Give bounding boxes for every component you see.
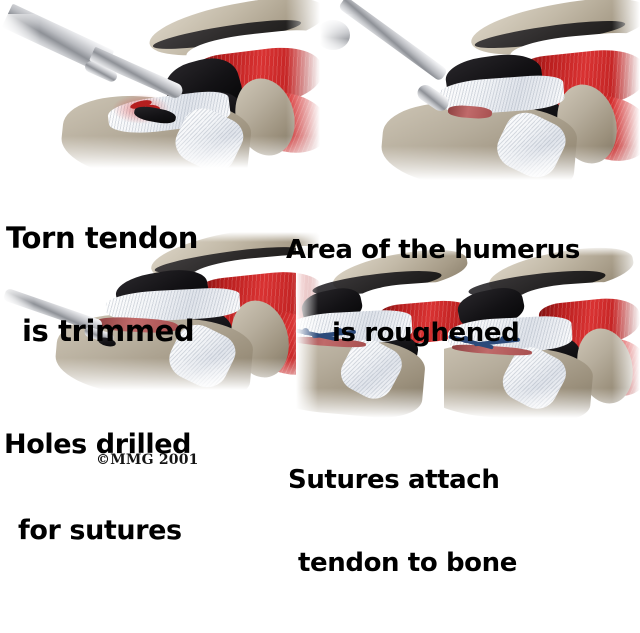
caption-panel-4: Sutures attach tendon to bone bbox=[288, 412, 517, 632]
illustration-canvas: Torn tendon is trimmed Area of the humer… bbox=[0, 0, 640, 480]
panel1-left-fade bbox=[0, 14, 40, 70]
caption-1-line-1: Torn tendon bbox=[6, 223, 198, 254]
caption-3-line-2: for sutures bbox=[18, 517, 191, 546]
panel2-bottom-fade bbox=[320, 146, 640, 180]
caption-4-line-1: Sutures attach bbox=[288, 467, 517, 495]
panel-torn-tendon-trimmed bbox=[0, 0, 320, 168]
copyright-notice: ©MMG 2001 bbox=[96, 452, 199, 468]
caption-4-line-2: tendon to bone bbox=[298, 550, 517, 578]
panel2-left-fade bbox=[320, 14, 354, 72]
caption-2-line-1: Area of the humerus bbox=[286, 237, 580, 265]
caption-1-line-2: is trimmed bbox=[22, 316, 198, 347]
caption-2-line-2: is roughened bbox=[332, 320, 580, 348]
panel-humerus-roughened bbox=[320, 0, 640, 180]
caption-panel-2: Area of the humerus is roughened bbox=[286, 182, 580, 402]
caption-panel-1: Torn tendon is trimmed bbox=[6, 162, 198, 408]
caption-panel-3: Holes drilled for sutures bbox=[4, 374, 191, 603]
burr-shaft[interactable] bbox=[338, 0, 448, 82]
